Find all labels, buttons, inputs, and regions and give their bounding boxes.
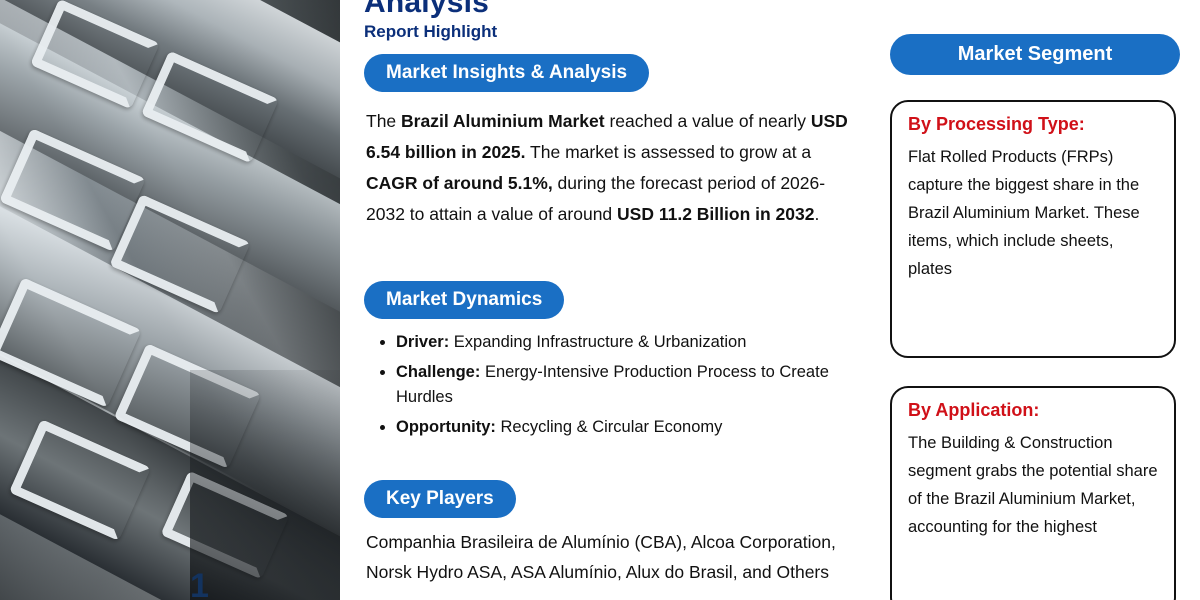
segment-card-title: By Application:: [908, 400, 1160, 421]
section-header-market-insights: Market Insights & Analysis: [364, 54, 649, 92]
dynamics-label: Opportunity:: [396, 418, 496, 436]
right-column: Market Segment By Processing Type: Flat …: [890, 0, 1190, 600]
report-highlight-label: Report Highlight: [364, 22, 497, 42]
market-dynamics-list: Driver: Expanding Infrastructure & Urban…: [378, 330, 858, 445]
middle-column: Analysis Report Highlight Market Insight…: [364, 0, 864, 600]
dynamics-label: Challenge:: [396, 363, 480, 381]
insights-text-b3: CAGR of around 5.1%,: [366, 173, 553, 193]
photo-caption-number: 1: [190, 567, 209, 600]
section-header-key-players: Key Players: [364, 480, 516, 518]
page-title: Analysis: [364, 0, 489, 20]
section-header-label: Key Players: [364, 480, 516, 518]
section-header-label: Market Dynamics: [364, 281, 564, 319]
dynamics-text: Expanding Infrastructure & Urbanization: [449, 333, 746, 351]
insights-text-p1: The: [366, 111, 401, 131]
aluminium-extrusion-profiles-photo: [0, 0, 340, 600]
list-item: Driver: Expanding Infrastructure & Urban…: [396, 330, 858, 355]
segment-card-title: By Processing Type:: [908, 114, 1160, 135]
market-insights-paragraph: The Brazil Aluminium Market reached a va…: [366, 106, 858, 230]
dynamics-text: Recycling & Circular Economy: [496, 418, 723, 436]
key-players-paragraph: Companhia Brasileira de Alumínio (CBA), …: [366, 527, 858, 587]
insights-text-p2: reached a value of nearly: [605, 111, 811, 131]
insights-text-b1: Brazil Aluminium Market: [401, 111, 605, 131]
market-segment-header: Market Segment: [890, 34, 1180, 75]
list-item: Opportunity: Recycling & Circular Econom…: [396, 415, 858, 440]
segment-card-application: By Application: The Building & Construct…: [890, 386, 1176, 600]
dynamics-label: Driver:: [396, 333, 449, 351]
segment-card-body: The Building & Construction segment grab…: [908, 429, 1160, 541]
segment-card-body: Flat Rolled Products (FRPs) capture the …: [908, 143, 1160, 283]
section-header-market-dynamics: Market Dynamics: [364, 281, 564, 319]
segment-card-processing-type: By Processing Type: Flat Rolled Products…: [890, 100, 1176, 358]
list-item: Challenge: Energy-Intensive Production P…: [396, 360, 858, 410]
section-header-label: Market Insights & Analysis: [364, 54, 649, 92]
photo-shadow-overlay: [190, 370, 340, 600]
insights-text-p3: The market is assessed to grow at a: [526, 142, 812, 162]
insights-text-p5: .: [814, 204, 819, 224]
insights-text-b4: USD 11.2 Billion in 2032: [617, 204, 814, 224]
report-infographic-page: 1 Analysis Report Highlight Market Insig…: [0, 0, 1200, 600]
